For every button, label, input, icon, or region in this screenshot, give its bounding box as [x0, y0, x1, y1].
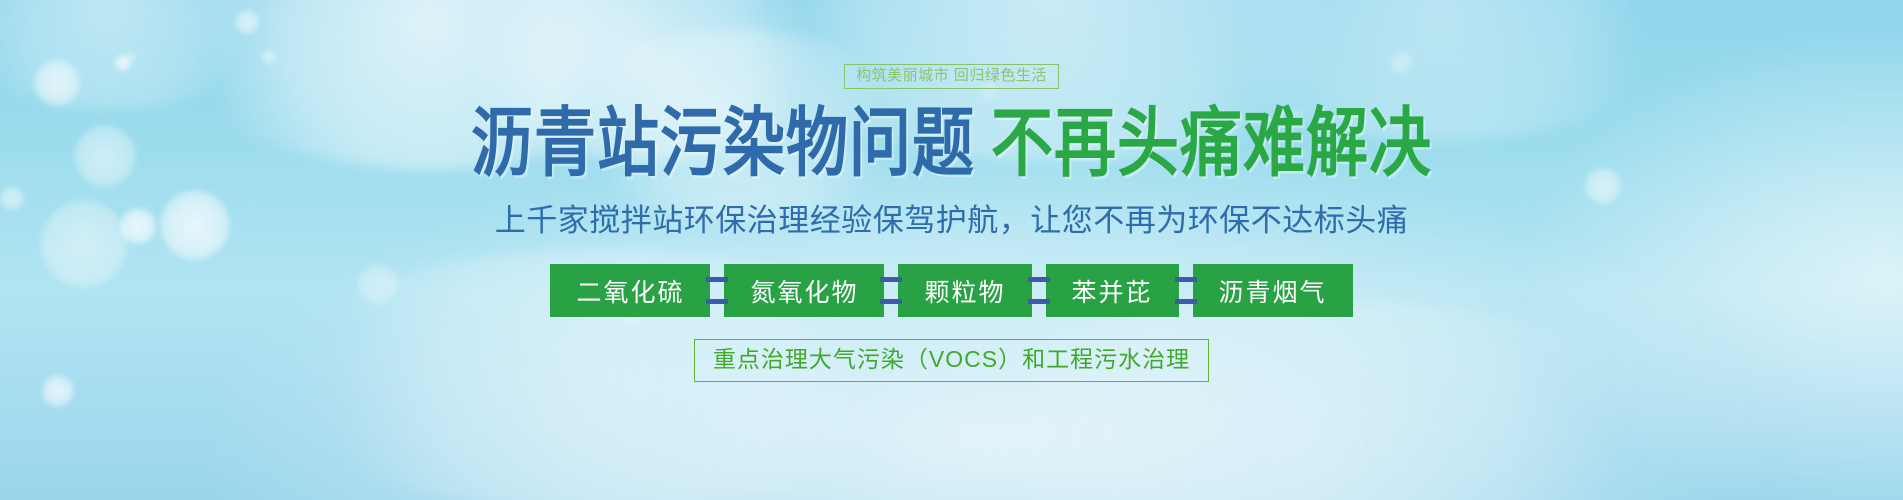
chip-label: 氮氧化物: [750, 273, 858, 309]
chip-separator: [710, 264, 724, 317]
banner-content: 构筑美丽城市 回归绿色生活 沥青站污染物问题不再头痛难解决 上千家搅拌站环保治理…: [0, 0, 1903, 500]
chip-separator: [884, 264, 898, 317]
headline-blue-text: 沥青站污染物问题: [471, 98, 975, 187]
tagline-badge: 构筑美丽城市 回归绿色生活: [844, 64, 1059, 89]
footer-tagline-box: 重点治理大气污染（VOCS）和工程污水治理: [694, 339, 1209, 382]
chip-label: 二氧化硫: [576, 273, 684, 309]
pollutant-chip-row: 二氧化硫 氮氧化物 颗粒物 苯并芘 沥青烟气: [550, 264, 1352, 317]
chip-label: 颗粒物: [924, 273, 1005, 309]
chip-sulfur-dioxide[interactable]: 二氧化硫: [550, 264, 710, 317]
chip-particulate-matter[interactable]: 颗粒物: [898, 264, 1031, 317]
headline-green-text: 不再头痛难解决: [991, 98, 1432, 187]
chip-benzopyrene[interactable]: 苯并芘: [1046, 264, 1179, 317]
chip-separator: [1179, 264, 1193, 317]
chip-label: 沥青烟气: [1219, 273, 1327, 309]
hero-banner: 构筑美丽城市 回归绿色生活 沥青站污染物问题不再头痛难解决 上千家搅拌站环保治理…: [0, 0, 1903, 500]
page-title: 沥青站污染物问题不再头痛难解决: [471, 103, 1432, 185]
chip-nitrogen-oxides[interactable]: 氮氧化物: [724, 264, 884, 317]
chip-label: 苯并芘: [1072, 273, 1153, 309]
subtitle: 上千家搅拌站环保治理经验保驾护航，让您不再为环保不达标头痛: [495, 202, 1409, 239]
chip-asphalt-fume[interactable]: 沥青烟气: [1193, 264, 1353, 317]
chip-separator: [1032, 264, 1046, 317]
